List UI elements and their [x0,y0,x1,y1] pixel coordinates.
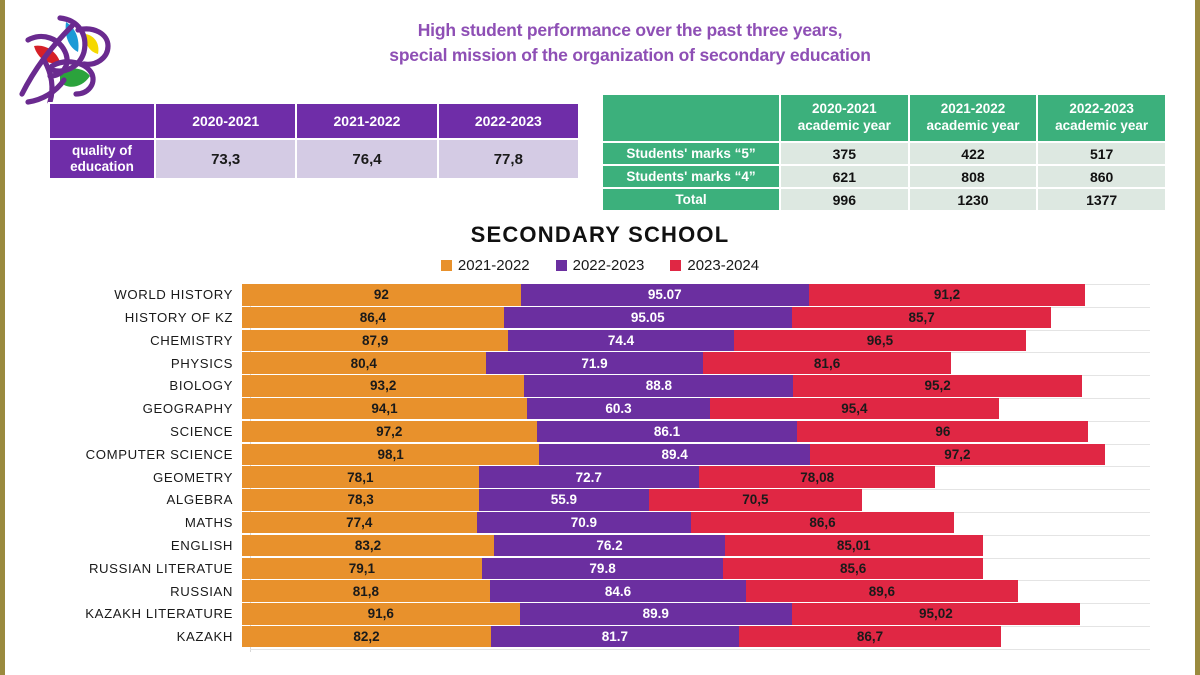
chart-row: KAZAKH82,281.786,7 [0,626,1200,648]
category-label-chemistry: CHEMISTRY [0,333,242,348]
bar-value-label: 92 [374,287,389,302]
category-label-geometry: GEOMETRY [0,470,242,485]
bar-segment-2021-2022[interactable]: 98,1 [242,444,539,466]
marks-row-2-value-0: 996 [781,189,908,210]
bar-segment-2023-2024[interactable]: 95,4 [710,398,999,420]
category-label-algebra: ALGEBRA [0,492,242,507]
bar-value-label: 95.07 [648,287,682,302]
bar-segment-2021-2022[interactable]: 92 [242,284,521,306]
marks-row-2-value-1: 1230 [910,189,1037,210]
bar-value-label: 74.4 [608,333,634,348]
stacked-bar: 80,471.981,6 [242,352,1192,374]
bar-segment-2022-2023[interactable]: 95.05 [504,307,792,329]
chart-row: WORLD HISTORY9295.0791,2 [0,284,1200,306]
chart-row: RUSSIAN81,884.689,6 [0,580,1200,602]
stacked-bar: 86,495.0585,7 [242,307,1192,329]
bar-segment-2021-2022[interactable]: 78,1 [242,466,479,488]
stacked-bar: 82,281.786,7 [242,626,1192,648]
quality-table-value-3: 77,8 [439,140,578,178]
bar-value-label: 81,8 [353,584,379,599]
chart-title: SECONDARY SCHOOL [0,222,1200,248]
quality-table-corner-cell [50,104,154,138]
marks-col2-sub: academic year [913,118,1034,135]
stacked-bar: 78,172.778,08 [242,466,1192,488]
bar-value-label: 84.6 [605,584,631,599]
chart-row: KAZAKH LITERATURE91,689.995,02 [0,603,1200,625]
stacked-bar: 87,974.496,5 [242,330,1192,352]
bar-segment-2022-2023[interactable]: 89.9 [520,603,792,625]
stacked-bar-chart-plot-area: WORLD HISTORY9295.0791,2HISTORY OF KZ86,… [0,284,1200,652]
quality-table-col-header-1: 2020-2021 [156,104,295,138]
bar-segment-2023-2024[interactable]: 78,08 [699,466,936,488]
category-label-maths: MATHS [0,515,242,530]
marks-col1-sub: academic year [784,118,905,135]
chart-row: ALGEBRA78,355.970,5 [0,489,1200,511]
bar-segment-2023-2024[interactable]: 89,6 [746,580,1017,602]
chart-row: SCIENCE97,286.196 [0,421,1200,443]
legend-label: 2022-2023 [573,257,645,274]
legend-item-2022-2023[interactable]: 2022-2023 [556,257,645,274]
chart-row: BIOLOGY93,288.895,2 [0,375,1200,397]
bar-segment-2022-2023[interactable]: 88.8 [524,375,793,397]
category-label-biology: BIOLOGY [0,378,242,393]
bar-value-label: 86.1 [654,424,680,439]
bar-segment-2021-2022[interactable]: 81,8 [242,580,490,602]
bar-value-label: 86,7 [857,629,883,644]
category-label-kazakh: KAZAKH [0,629,242,644]
bar-value-label: 60.3 [605,401,631,416]
bar-segment-2023-2024[interactable]: 81,6 [703,352,950,374]
marks-table-col-header-3: 2022-2023 academic year [1038,95,1165,141]
marks-row-1-value-1: 808 [910,166,1037,187]
slide-canvas: High student performance over the past t… [0,0,1200,675]
bar-value-label: 79,1 [349,561,375,576]
bar-value-label: 85,01 [837,538,871,553]
quality-table-col-header-3: 2022-2023 [439,104,578,138]
bar-segment-2022-2023[interactable]: 74.4 [508,330,733,352]
organization-bird-flower-logo [8,4,118,112]
category-label-english: ENGLISH [0,538,242,553]
bar-value-label: 71.9 [581,356,607,371]
bar-value-label: 78,08 [800,470,834,485]
marks-row-2-value-2: 1377 [1038,189,1165,210]
bar-value-label: 95,2 [925,378,951,393]
stacked-bar: 9295.0791,2 [242,284,1192,306]
bar-segment-2021-2022[interactable]: 78,3 [242,489,479,511]
category-label-science: SCIENCE [0,424,242,439]
category-label-physics: PHYSICS [0,356,242,371]
chart-rows: WORLD HISTORY9295.0791,2HISTORY OF KZ86,… [0,284,1200,647]
bar-segment-2022-2023[interactable]: 95.07 [521,284,809,306]
bar-value-label: 91,2 [934,287,960,302]
chart-row: CHEMISTRY87,974.496,5 [0,330,1200,352]
bar-segment-2021-2022[interactable]: 80,4 [242,352,486,374]
marks-table-corner-cell [603,95,779,141]
marks-table-col-header-1: 2020-2021 academic year [781,95,908,141]
bar-value-label: 98,1 [377,447,403,462]
bar-segment-2021-2022[interactable]: 86,4 [242,307,504,329]
bar-value-label: 81,6 [814,356,840,371]
bar-value-label: 89.9 [643,606,669,621]
quality-table-col-header-2: 2021-2022 [297,104,436,138]
category-label-computer-science: COMPUTER SCIENCE [0,447,242,462]
marks-row-1-value-0: 621 [781,166,908,187]
stacked-bar: 83,276.285,01 [242,535,1192,557]
bar-segment-2023-2024[interactable]: 70,5 [649,489,863,511]
stacked-bar: 93,288.895,2 [242,375,1192,397]
bar-segment-2021-2022[interactable]: 77,4 [242,512,477,534]
bar-segment-2023-2024[interactable]: 95,2 [793,375,1081,397]
bar-value-label: 88.8 [646,378,672,393]
bar-segment-2021-2022[interactable]: 79,1 [242,558,482,580]
table-row: Total 996 1230 1377 [603,189,1165,210]
chart-row: MATHS77,470.986,6 [0,512,1200,534]
bar-value-label: 89.4 [662,447,688,462]
bar-segment-2021-2022[interactable]: 94,1 [242,398,527,420]
chart-row: RUSSIAN LITERATUE79,179.885,6 [0,558,1200,580]
bar-segment-2021-2022[interactable]: 97,2 [242,421,537,443]
bar-value-label: 82,2 [353,629,379,644]
stacked-bar: 81,884.689,6 [242,580,1192,602]
chart-row: COMPUTER SCIENCE98,189.497,2 [0,444,1200,466]
marks-row-0-value-0: 375 [781,143,908,164]
bar-segment-2023-2024[interactable]: 86,7 [739,626,1002,648]
quality-of-education-table: 2020-2021 2021-2022 2022-2023 quality of… [48,102,580,180]
bar-value-label: 76.2 [596,538,622,553]
bar-segment-2023-2024[interactable]: 85,7 [792,307,1052,329]
legend-swatch-icon [670,260,681,271]
chart-row: ENGLISH83,276.285,01 [0,535,1200,557]
bar-value-label: 80,4 [351,356,377,371]
gridline [250,649,1150,650]
bar-segment-2022-2023[interactable]: 72.7 [479,466,699,488]
page-title-line-2: special mission of the organization of s… [300,43,960,68]
stacked-bar: 97,286.196 [242,421,1192,443]
marks-row-1-value-2: 860 [1038,166,1165,187]
bar-value-label: 97,2 [376,424,402,439]
bar-value-label: 89,6 [869,584,895,599]
marks-col1-year: 2020-2021 [784,101,905,118]
bar-segment-2022-2023[interactable]: 84.6 [490,580,746,602]
chart-row: HISTORY OF KZ86,495.0585,7 [0,307,1200,329]
bar-value-label: 97,2 [944,447,970,462]
legend-label: 2021-2022 [458,257,530,274]
bar-value-label: 95,4 [841,401,867,416]
stacked-bar: 77,470.986,6 [242,512,1192,534]
bar-value-label: 72.7 [576,470,602,485]
marks-table-col-header-2: 2021-2022 academic year [910,95,1037,141]
marks-row-label-1: Students' marks “4” [603,166,779,187]
legend-item-2021-2022[interactable]: 2021-2022 [441,257,530,274]
bar-segment-2023-2024[interactable]: 97,2 [810,444,1105,466]
bar-value-label: 81.7 [602,629,628,644]
bar-value-label: 55.9 [551,492,577,507]
bar-segment-2021-2022[interactable]: 93,2 [242,375,524,397]
table-header-row: 2020-2021 2021-2022 2022-2023 [50,104,578,138]
page-title-line-1: High student performance over the past t… [300,18,960,43]
bar-segment-2023-2024[interactable]: 95,02 [792,603,1080,625]
bar-value-label: 78,3 [347,492,373,507]
bar-value-label: 70.9 [571,515,597,530]
bar-value-label: 95.05 [631,310,665,325]
marks-row-0-value-2: 517 [1038,143,1165,164]
legend-item-2023-2024[interactable]: 2023-2024 [670,257,759,274]
quality-table-row-label: quality of education [50,140,154,178]
bar-segment-2022-2023[interactable]: 79.8 [482,558,724,580]
bar-value-label: 94,1 [371,401,397,416]
bar-value-label: 96 [935,424,950,439]
category-label-russian: RUSSIAN [0,584,242,599]
bar-value-label: 70,5 [742,492,768,507]
chart-row: PHYSICS80,471.981,6 [0,352,1200,374]
bar-segment-2022-2023[interactable]: 70.9 [477,512,692,534]
students-marks-table: 2020-2021 academic year 2021-2022 academ… [601,93,1167,212]
bar-value-label: 78,1 [347,470,373,485]
category-label-geography: GEOGRAPHY [0,401,242,416]
table-row: quality of education 73,3 76,4 77,8 [50,140,578,178]
legend-swatch-icon [441,260,452,271]
stacked-bar: 98,189.497,2 [242,444,1192,466]
bar-segment-2022-2023[interactable]: 81.7 [491,626,739,648]
bar-value-label: 85,6 [840,561,866,576]
category-label-russian-literatue: RUSSIAN LITERATUE [0,561,242,576]
bar-value-label: 83,2 [355,538,381,553]
quality-table-value-2: 76,4 [297,140,436,178]
marks-col2-year: 2021-2022 [913,101,1034,118]
bar-segment-2021-2022[interactable]: 82,2 [242,626,491,648]
bar-segment-2022-2023[interactable]: 71.9 [486,352,704,374]
bar-segment-2023-2024[interactable]: 96,5 [734,330,1026,352]
marks-row-0-value-1: 422 [910,143,1037,164]
bar-segment-2023-2024[interactable]: 91,2 [809,284,1085,306]
bar-segment-2023-2024[interactable]: 96 [797,421,1088,443]
stacked-bar: 94,160.395,4 [242,398,1192,420]
table-header-row: 2020-2021 academic year 2021-2022 academ… [603,95,1165,141]
bar-segment-2021-2022[interactable]: 83,2 [242,535,494,557]
bar-segment-2022-2023[interactable]: 86.1 [537,421,798,443]
category-label-kazakh-literature: KAZAKH LITERATURE [0,606,242,621]
bar-segment-2021-2022[interactable]: 87,9 [242,330,508,352]
bar-segment-2021-2022[interactable]: 91,6 [242,603,520,625]
bar-segment-2022-2023[interactable]: 76.2 [494,535,725,557]
quality-table-value-1: 73,3 [156,140,295,178]
bar-value-label: 91,6 [368,606,394,621]
marks-col3-sub: academic year [1041,118,1162,135]
stacked-bar: 91,689.995,02 [242,603,1192,625]
category-label-world-history: WORLD HISTORY [0,287,242,302]
table-row: Students' marks “4” 621 808 860 [603,166,1165,187]
marks-row-label-0: Students' marks “5” [603,143,779,164]
chart-row: GEOGRAPHY94,160.395,4 [0,398,1200,420]
bar-value-label: 86,6 [809,515,835,530]
page-title: High student performance over the past t… [300,18,960,68]
bar-value-label: 77,4 [346,515,372,530]
table-row: Students' marks “5” 375 422 517 [603,143,1165,164]
bar-value-label: 93,2 [370,378,396,393]
bar-segment-2022-2023[interactable]: 89.4 [539,444,810,466]
bar-segment-2022-2023[interactable]: 60.3 [527,398,710,420]
bar-value-label: 87,9 [362,333,388,348]
marks-col3-year: 2022-2023 [1041,101,1162,118]
chart-legend: 2021-20222022-20232023-2024 [0,257,1200,274]
legend-swatch-icon [556,260,567,271]
bar-segment-2022-2023[interactable]: 55.9 [479,489,648,511]
marks-row-label-2: Total [603,189,779,210]
bar-value-label: 79.8 [589,561,615,576]
category-label-history-of-kz: HISTORY OF KZ [0,310,242,325]
stacked-bar: 78,355.970,5 [242,489,1192,511]
bar-value-label: 96,5 [867,333,893,348]
bar-segment-2023-2024[interactable]: 86,6 [691,512,953,534]
bar-segment-2023-2024[interactable]: 85,01 [725,535,983,557]
bar-segment-2023-2024[interactable]: 85,6 [723,558,982,580]
legend-label: 2023-2024 [687,257,759,274]
bar-value-label: 95,02 [919,606,953,621]
chart-row: GEOMETRY78,172.778,08 [0,466,1200,488]
bar-value-label: 85,7 [908,310,934,325]
stacked-bar: 79,179.885,6 [242,558,1192,580]
bar-value-label: 86,4 [360,310,386,325]
